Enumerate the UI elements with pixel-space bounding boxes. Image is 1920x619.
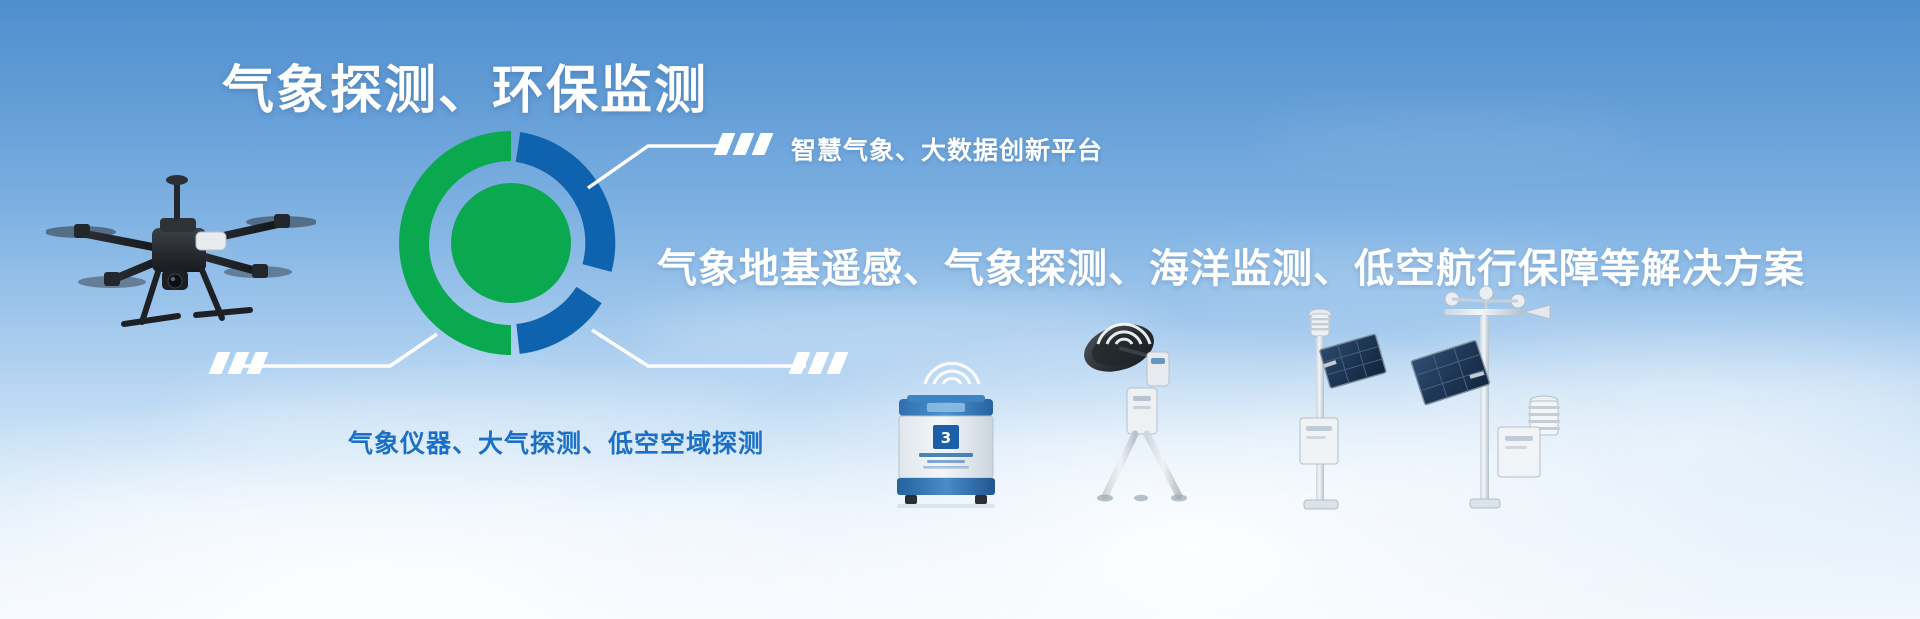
solar-station-left-icon bbox=[1278, 300, 1388, 510]
ring-logo bbox=[396, 128, 626, 364]
cloud-streak bbox=[1260, 120, 1640, 154]
callout-top-label: 智慧气象、大数据创新平台 bbox=[791, 131, 1103, 167]
callout-bottom-label: 气象仪器、大气探测、低空空域探测 bbox=[348, 424, 764, 460]
cloud-streak bbox=[40, 470, 800, 560]
slash-accent-right bbox=[793, 352, 844, 374]
instrument-cabinet-icon: 3 bbox=[893, 395, 999, 505]
solar-weather-mast-icon bbox=[1400, 285, 1570, 510]
signal-waves-cabinet bbox=[915, 328, 989, 394]
slash-accent-left bbox=[213, 352, 264, 374]
drone-icon bbox=[46, 160, 316, 345]
radar-dish-icon bbox=[1075, 310, 1205, 500]
hero-banner: 气象探测、环保监测 智慧气象、大数据创新平台 气象地基遥感、气象探测、海洋监测、… bbox=[0, 0, 1920, 619]
callout-main-label: 气象地基遥感、气象探测、海洋监测、低空航行保障等解决方案 bbox=[657, 236, 1805, 294]
slash-accent-top bbox=[718, 133, 769, 155]
page-title: 气象探测、环保监测 bbox=[222, 48, 708, 123]
svg-text:3: 3 bbox=[941, 429, 951, 447]
